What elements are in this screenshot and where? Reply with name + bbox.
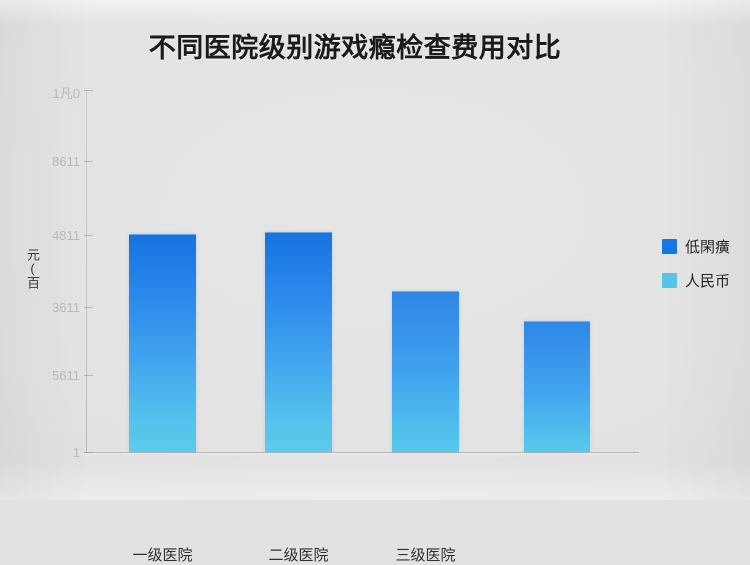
y-axis-title: 元(百 xyxy=(18,248,40,289)
y-axis-tick-label: 1 xyxy=(24,445,80,460)
legend-item-label: 人民币 xyxy=(685,270,730,291)
legend-color-swatch-icon xyxy=(662,273,677,288)
y-axis-tick xyxy=(84,452,93,453)
x-axis-baseline xyxy=(83,452,639,453)
y-axis-tick xyxy=(84,375,93,376)
legend: 低閑癀 人民币 xyxy=(662,234,730,302)
x-axis-label-2: 三级医院 xyxy=(362,544,489,565)
y-axis-tick-label: 1凡0 xyxy=(24,83,80,102)
y-axis-tick-label: 3611 xyxy=(24,300,80,315)
background-highlight-bottom xyxy=(0,460,750,500)
y-axis-tick xyxy=(84,161,93,162)
y-axis-tick-label: 4811 xyxy=(24,228,80,243)
y-axis-tick xyxy=(84,90,93,91)
legend-item-1[interactable]: 人民币 xyxy=(662,268,730,292)
bar-category-3 xyxy=(524,321,590,452)
y-axis-line xyxy=(86,90,87,453)
bar-chart-figure: 不同医院级别游戏瘾检查费用对比 元(百 1凡0 8611 4811 3611 5… xyxy=(0,0,750,500)
background-highlight-top xyxy=(0,0,750,26)
bar-category-0 xyxy=(129,234,196,452)
legend-item-label: 低閑癀 xyxy=(685,236,730,257)
chart-title: 不同医院级别游戏瘾检查费用对比 xyxy=(0,26,710,65)
y-axis-tick xyxy=(84,235,93,236)
bar-category-2 xyxy=(392,291,459,452)
y-axis-tick-label: 5611 xyxy=(24,368,80,383)
plot-area: 1凡0 8611 4811 3611 5611 1 一级医院 二级医院 三级医院 xyxy=(86,82,642,453)
bar-category-1 xyxy=(265,232,332,452)
legend-color-swatch-icon xyxy=(662,239,677,254)
x-axis-label-1: 二级医院 xyxy=(235,544,362,565)
y-axis-tick xyxy=(84,307,93,308)
y-axis-tick-label: 8611 xyxy=(24,154,80,169)
legend-item-0[interactable]: 低閑癀 xyxy=(662,234,730,258)
x-axis-label-0: 一级医院 xyxy=(99,544,226,565)
